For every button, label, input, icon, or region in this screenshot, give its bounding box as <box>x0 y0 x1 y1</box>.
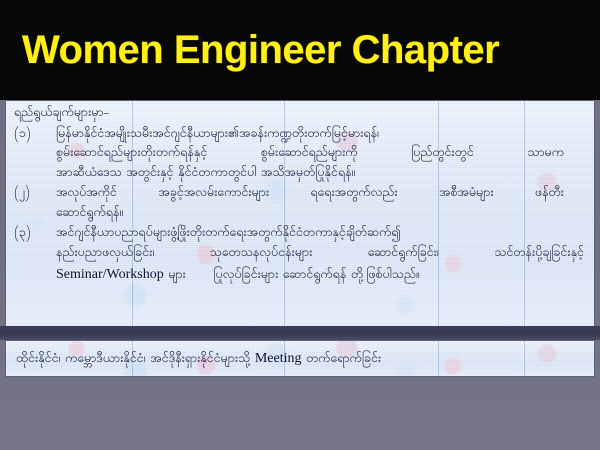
objective-line: မြန်မာနိုင်ငံအမျိုးသမီးအင်ဂျင်နီယာများ၏အ… <box>56 126 586 146</box>
objectives-heading: ရည်ရွယ်ချက်များမှာ- <box>14 106 586 123</box>
objective-line: အင်ဂျင်နီယာပညာရပ်များဖွံ့ဖြိုးတိုးတက်ရေး… <box>56 225 586 245</box>
objective-line: နည်းပညာဖလှယ်ခြင်း၊ သုတေသနလုပ်ငန်းများ ဆေ… <box>56 245 586 265</box>
objective-number: (၃) <box>14 225 56 244</box>
objective-segment: အလုပ်အကိုင် <box>56 185 117 205</box>
meeting-line: ထိုင်းနိုင်ငံ၊ ကမ္ဘောဒီယားနိုင်ငံ၊ အင်ဒိ… <box>6 341 594 368</box>
objective-number: (၁) <box>14 126 56 145</box>
objectives-panel: ရည်ရွယ်ချက်များမှာ- (၁) မြန်မာနိုင်ငံအမျ… <box>5 100 595 328</box>
objective-line: စွမ်းဆောင်ရည်များတိုးတက်ရန်နှင့် စွမ်းဆေ… <box>56 145 586 165</box>
objective-number: (၂) <box>14 185 56 204</box>
objective-item: (၂) အလုပ်အကိုင် အခွင့်အလမ်းကောင်းများ ရရ… <box>14 185 586 224</box>
presentation-slide: Women Engineer Chapter ရည်ရွယ်ချက်များမှ… <box>0 0 600 450</box>
meeting-prefix: ထိုင်းနိုင်ငံ၊ ကမ္ဘောဒီယားနိုင်ငံ၊ အင်ဒိ… <box>16 351 250 369</box>
meeting-label: Meeting <box>255 351 302 366</box>
objective-segment: အခွင့်အလမ်းကောင်းများ <box>158 185 269 205</box>
objective-item: (၃) အင်ဂျင်နီယာပညာရပ်များဖွံ့ဖြိုးတိုးတက… <box>14 225 586 287</box>
meeting-panel: ထိုင်းနိုင်ငံ၊ ကမ္ဘောဒီယားနိုင်ငံ၊ အင်ဒိ… <box>5 340 595 377</box>
objective-line: Seminar/Workshop များ ပြုလုပ်ခြင်းများ ဆ… <box>56 264 586 287</box>
objective-segment: စွမ်းဆောင်ရည်များတိုးတက်ရန်နှင့် <box>56 145 207 165</box>
objective-item: (၁) မြန်မာနိုင်ငံအမျိုးသမီးအင်ဂျင်နီယာမျ… <box>14 126 586 185</box>
objective-segment: စွမ်းဆောင်ရည်များကို <box>261 145 358 165</box>
meeting-suffix: တက်ရောက်ခြင်း <box>306 351 381 369</box>
objective-segment: ပြည်တွင်းတွင် <box>411 145 474 165</box>
objective-segment: နည်းပညာဖလှယ်ခြင်း၊ <box>56 245 154 265</box>
objective-segment: ပြုလုပ်ခြင်းများ ဆောင်ရွက်ရန် တို့ဖြစ်ပါ… <box>214 267 420 285</box>
panel-separator <box>0 326 600 340</box>
objective-segment: သာမက <box>527 145 564 165</box>
slide-title: Women Engineer Chapter <box>0 30 499 70</box>
objective-segment: ရရေးအတွက်လည်း <box>310 185 397 205</box>
objective-segment: အစီအမံများ <box>439 185 494 205</box>
objective-line: အာဆီယံဒေသ အတွင်းနှင့် နိုင်ငံတကာတွင်ပါ အ… <box>56 165 586 185</box>
objective-line: ဆောင်ရွက်ရန်။ <box>56 205 586 225</box>
slide-title-band: Women Engineer Chapter <box>0 0 600 100</box>
objective-line: အလုပ်အကိုင် အခွင့်အလမ်းကောင်းများ ရရေးအတ… <box>56 185 586 205</box>
objective-segment: ဆောင်ရွက်ခြင်း၊ <box>368 245 439 265</box>
objective-segment: သင်တန်းပို့ချခြင်းနှင့် <box>494 245 584 265</box>
objective-segment: သုတေသနလုပ်ငန်းများ <box>210 245 312 265</box>
objective-segment: ဖန်တီး <box>535 185 564 205</box>
seminar-workshop-label: Seminar/Workshop <box>56 267 164 282</box>
objective-segment: များ <box>168 267 185 285</box>
